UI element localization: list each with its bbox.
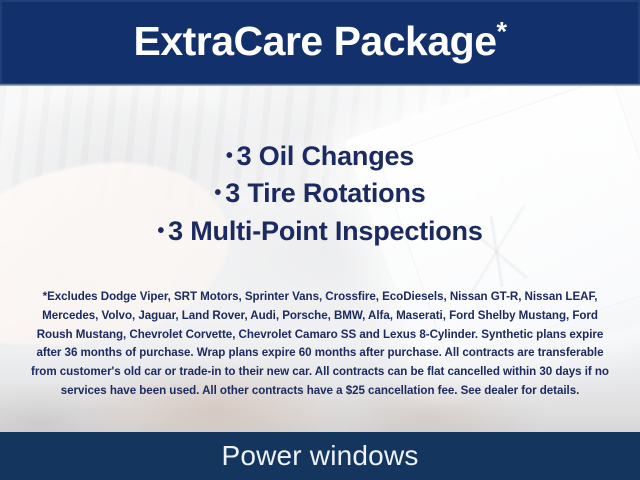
promo-slide: ExtraCare Package* •3 Oil Changes •3 Tir…	[0, 0, 640, 480]
page-title-asterisk: *	[497, 16, 507, 46]
feature-list-item: •3 Multi-Point Inspections	[0, 213, 640, 250]
bullet-dot-icon: •	[157, 220, 164, 242]
feature-list-item: •3 Tire Rotations	[0, 175, 640, 212]
feature-list-item-label: 3 Oil Changes	[237, 141, 414, 171]
caption-bar: Power windows	[0, 432, 640, 480]
page-title-text: ExtraCare Package	[133, 18, 496, 64]
header-band: ExtraCare Package*	[0, 0, 640, 86]
page-title: ExtraCare Package*	[133, 21, 506, 62]
feature-list: •3 Oil Changes •3 Tire Rotations •3 Mult…	[0, 138, 640, 250]
disclaimer-text: *Excludes Dodge Viper, SRT Motors, Sprin…	[26, 288, 614, 401]
caption-label: Power windows	[221, 442, 418, 470]
bullet-dot-icon: •	[214, 182, 221, 204]
feature-list-item-label: 3 Multi-Point Inspections	[168, 216, 483, 246]
bullet-dot-icon: •	[226, 145, 233, 167]
feature-list-item-label: 3 Tire Rotations	[225, 178, 425, 208]
feature-list-item: •3 Oil Changes	[0, 138, 640, 175]
